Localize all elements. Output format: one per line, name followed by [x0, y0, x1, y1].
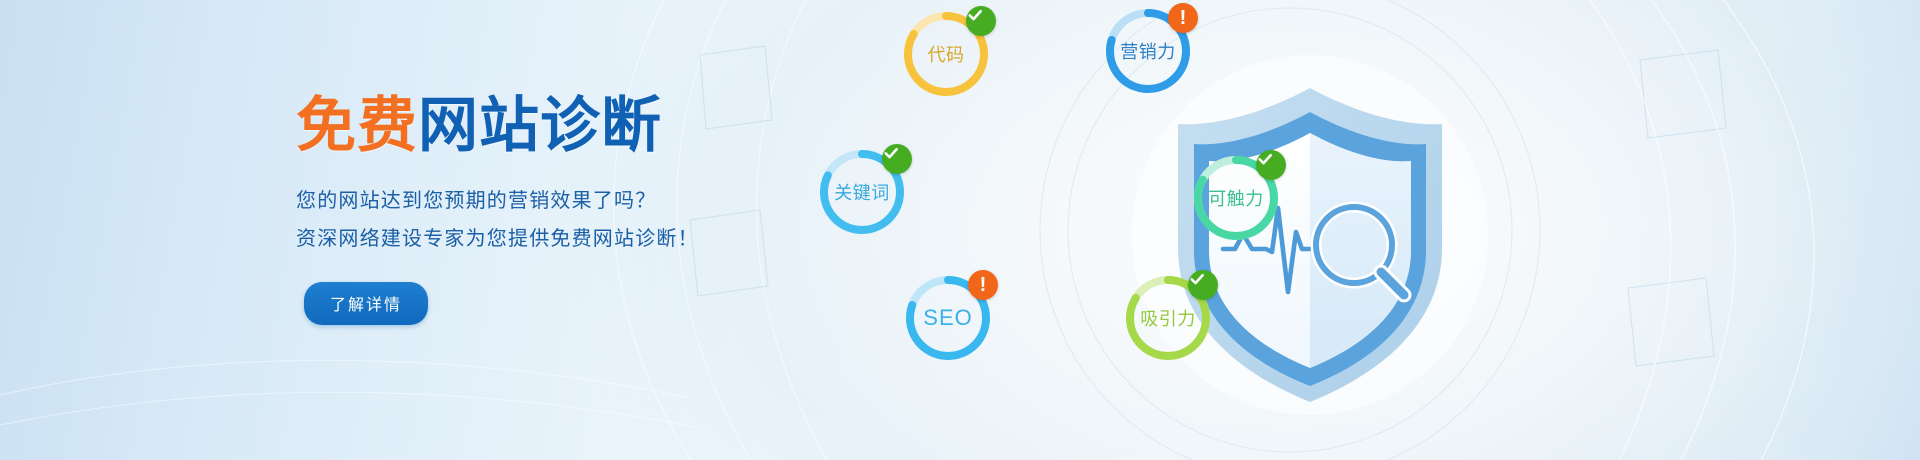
badge-attract[interactable]: 吸引力	[1122, 272, 1214, 364]
title-rest: 网站诊断	[418, 92, 662, 159]
diagnostics-illustration: 代码 营销力 ! 关键词	[980, 0, 1920, 460]
check-icon	[966, 6, 996, 36]
check-icon	[1188, 270, 1218, 300]
exclamation-glyph: !	[980, 275, 987, 295]
badge-seo[interactable]: SEO !	[902, 272, 994, 364]
exclamation-glyph: !	[1180, 8, 1187, 28]
badge-code[interactable]: 代码	[900, 8, 992, 100]
title-highlight: 免费	[296, 92, 418, 159]
learn-more-button[interactable]: 了解详情	[304, 282, 428, 325]
subtitle-line-1: 您的网站达到您预期的营销效果了吗？	[296, 190, 656, 212]
badge-marketing[interactable]: 营销力 !	[1102, 5, 1194, 97]
badge-touch[interactable]: 可触力	[1190, 152, 1282, 244]
free-website-diagnosis-banner: 免费网站诊断 您的网站达到您预期的营销效果了吗？ 资深网络建设专家为您提供免费网…	[0, 0, 1920, 460]
check-icon	[882, 144, 912, 174]
alert-icon: !	[1168, 3, 1198, 33]
check-icon	[1256, 150, 1286, 180]
badge-keyword[interactable]: 关键词	[816, 146, 908, 238]
alert-icon: !	[968, 270, 998, 300]
